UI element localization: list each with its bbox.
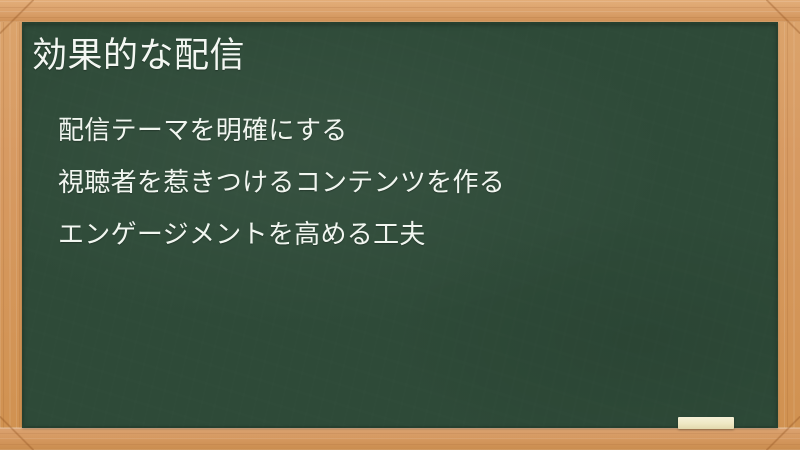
bullet-item-1: 配信テーマを明確にする [58,104,758,156]
slide-canvas: 効果的な配信 配信テーマを明確にする 視聴者を惹きつけるコンテンツを作る エンゲ… [0,0,800,450]
slide-content: 効果的な配信 配信テーマを明確にする 視聴者を惹きつけるコンテンツを作る エンゲ… [22,22,778,428]
bullet-list: 配信テーマを明確にする 視聴者を惹きつけるコンテンツを作る エンゲージメントを高… [58,104,758,260]
chalk-tray [0,428,800,450]
chalkboard-surface: 効果的な配信 配信テーマを明確にする 視聴者を惹きつけるコンテンツを作る エンゲ… [22,22,778,428]
slide-title: 効果的な配信 [32,32,732,80]
bullet-item-3: エンゲージメントを高める工夫 [58,208,758,260]
frame-top-rail [0,0,800,22]
bullet-item-2: 視聴者を惹きつけるコンテンツを作る [58,156,758,208]
chalk-stick-icon [678,417,734,429]
